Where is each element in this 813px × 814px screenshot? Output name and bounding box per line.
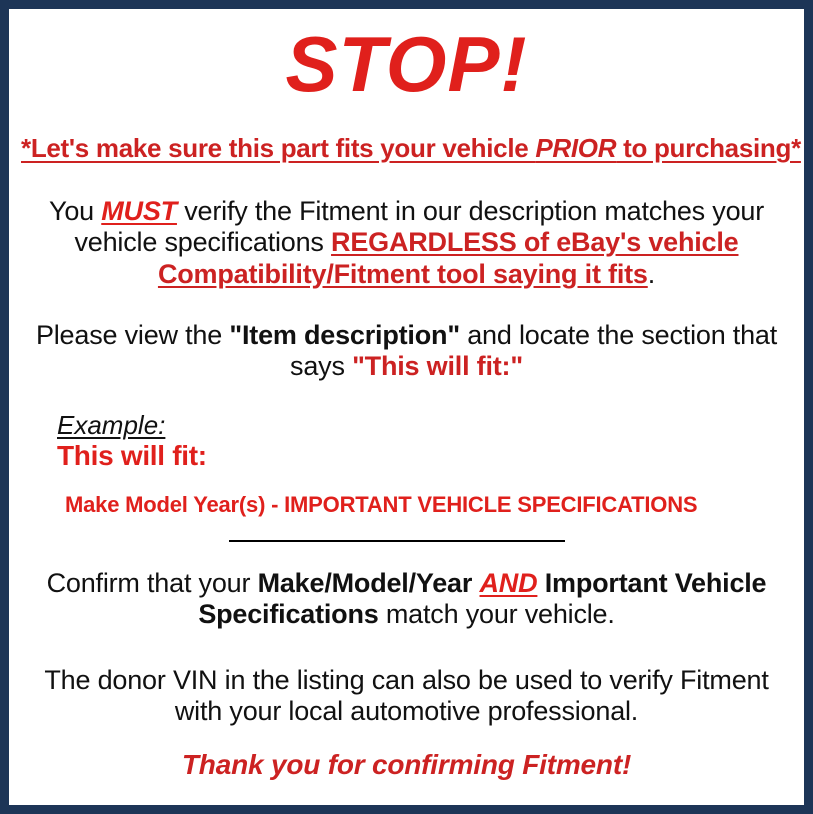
- paragraph-view-description: Please view the "Item description" and l…: [21, 320, 792, 383]
- must-text-3: .: [648, 259, 655, 289]
- section-divider-rule: [229, 540, 565, 542]
- stop-headline: STOP!: [21, 25, 792, 103]
- thank-you-line: Thank you for confirming Fitment!: [21, 749, 792, 781]
- fitment-notice-body: STOP! *Let's make sure this part fits yo…: [9, 9, 804, 805]
- confirm-text-2: match your vehicle.: [379, 599, 615, 629]
- emphasis-and: AND: [480, 568, 538, 598]
- paragraph-must-verify: You MUST verify the Fitment in our descr…: [21, 196, 792, 290]
- example-block: Example: This will fit: Make Model Year(…: [21, 411, 792, 518]
- example-label: Example:: [57, 411, 792, 440]
- view-text-1: Please view the: [36, 320, 229, 350]
- must-text-1: You: [49, 196, 101, 226]
- paragraph-confirm: Confirm that your Make/Model/Year AND Im…: [21, 568, 792, 631]
- emphasis-make-model-year: Make/Model/Year: [258, 568, 473, 598]
- tagline-text-before: *Let's make sure this part fits your veh…: [21, 133, 535, 163]
- paragraph-donor-vin: The donor VIN in the listing can also be…: [21, 665, 792, 728]
- confirm-text-1: Confirm that your: [47, 568, 258, 598]
- example-spec-line: Make Model Year(s) - IMPORTANT VEHICLE S…: [57, 492, 792, 518]
- fitment-notice-frame: STOP! *Let's make sure this part fits yo…: [0, 0, 813, 814]
- tagline-text-after: to purchasing*: [616, 133, 801, 163]
- divider-wrapper: [21, 540, 792, 542]
- tagline-banner: *Let's make sure this part fits your veh…: [21, 133, 792, 164]
- emphasis-must: MUST: [101, 196, 177, 226]
- example-this-will-fit-heading: This will fit:: [57, 441, 792, 472]
- tagline-emphasis-prior: PRIOR: [535, 133, 616, 163]
- emphasis-this-will-fit: "This will fit:": [352, 351, 523, 381]
- emphasis-item-description: "Item description": [229, 320, 460, 350]
